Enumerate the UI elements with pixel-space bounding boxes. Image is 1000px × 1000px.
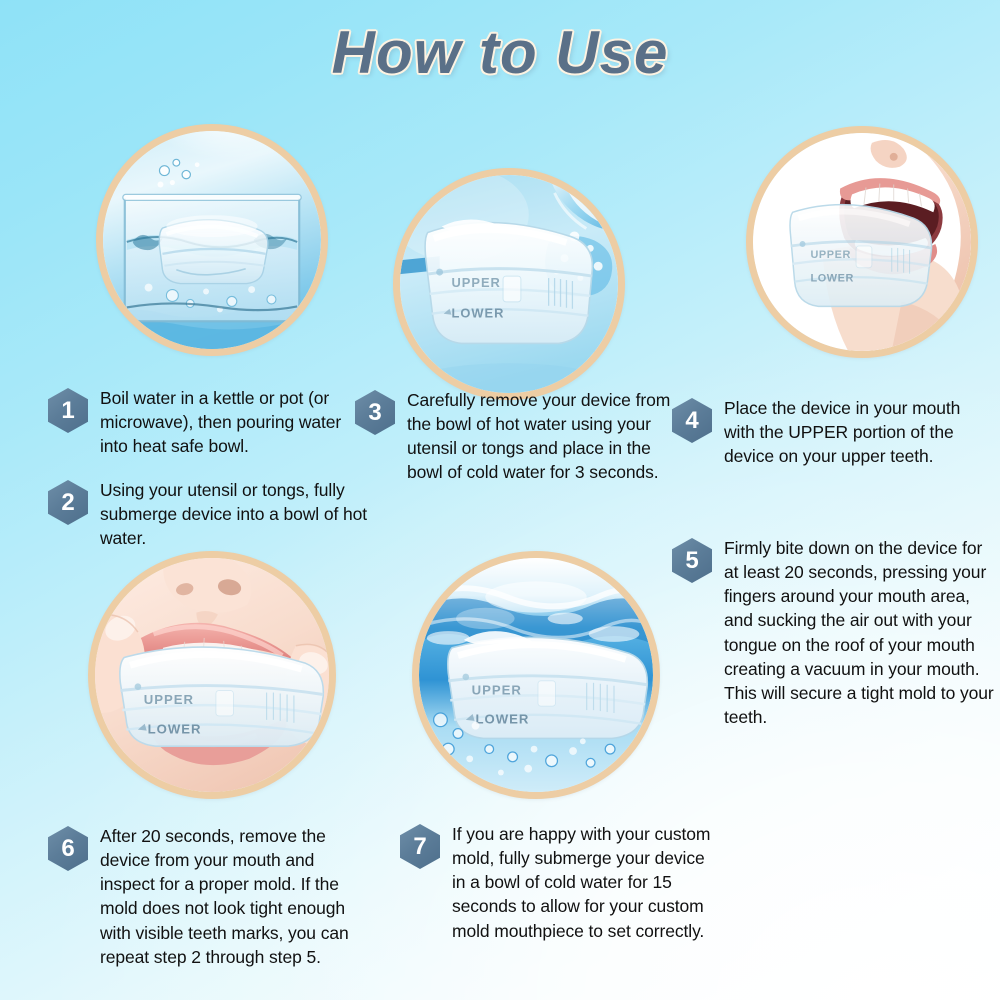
page-title: How to Use [0,18,1000,87]
step-5-badge: 5 [672,538,712,583]
step-photo-open-mouth: UPPER LOWER [746,126,978,358]
photo-3-inner: UPPER LOWER [753,133,971,351]
step-2-text: Using your utensil or tongs, fully subme… [100,478,373,550]
photo-5-inner: UPPER LOWER [419,558,653,792]
step-1-badge: 1 [48,388,88,433]
step-7-badge: 7 [400,824,440,869]
step-5: 5 Firmly bite down on the device for at … [672,536,997,729]
step-7-text: If you are happy with your custom mold, … [452,822,715,943]
step-4-badge: 4 [672,398,712,443]
step-2: 2 Using your utensil or tongs, fully sub… [48,478,373,550]
step-photo-place-in-mouth: UPPER LOWER [88,551,336,799]
step-6: 6 After 20 seconds, remove the device fr… [48,824,368,969]
how-to-use-poster: How to Use [0,0,1000,1000]
step-2-badge: 2 [48,480,88,525]
step-photo-cold-water: UPPER LOWER [412,551,660,799]
svg-text:LOWER: LOWER [148,722,202,737]
svg-text:LOWER: LOWER [452,306,505,321]
photo-2-inner: UPPER LOWER [400,175,618,393]
step-3-badge: 3 [355,390,395,435]
step-4-text: Place the device in your mouth with the … [724,396,992,468]
step-3: 3 Carefully remove your device from the … [355,388,685,485]
device-splash-illustration: UPPER LOWER [400,175,618,393]
svg-text:UPPER: UPPER [144,692,194,707]
step-1: 1 Boil water in a kettle or pot (or micr… [48,386,358,458]
step-6-text: After 20 seconds, remove the device from… [100,824,368,969]
step-photo-device-splash: UPPER LOWER [393,168,625,400]
svg-text:LOWER: LOWER [476,712,530,727]
step-photo-boiling-water [96,124,328,356]
step-6-badge: 6 [48,826,88,871]
cold-water-illustration: UPPER LOWER [419,558,653,792]
step-5-text: Firmly bite down on the device for at le… [724,536,997,729]
svg-text:UPPER: UPPER [452,275,501,290]
place-device-illustration: UPPER LOWER [95,558,329,792]
svg-text:UPPER: UPPER [810,249,851,261]
open-mouth-illustration: UPPER LOWER [753,133,971,351]
photo-1-inner [103,131,321,349]
step-7: 7 If you are happy with your custom mold… [400,822,715,943]
svg-text:UPPER: UPPER [472,683,522,698]
step-4: 4 Place the device in your mouth with th… [672,396,992,468]
step-3-text: Carefully remove your device from the bo… [407,388,685,485]
step-1-text: Boil water in a kettle or pot (or microw… [100,386,358,458]
svg-text:LOWER: LOWER [810,273,854,285]
boiling-water-illustration [103,131,321,349]
photo-4-inner: UPPER LOWER [95,558,329,792]
